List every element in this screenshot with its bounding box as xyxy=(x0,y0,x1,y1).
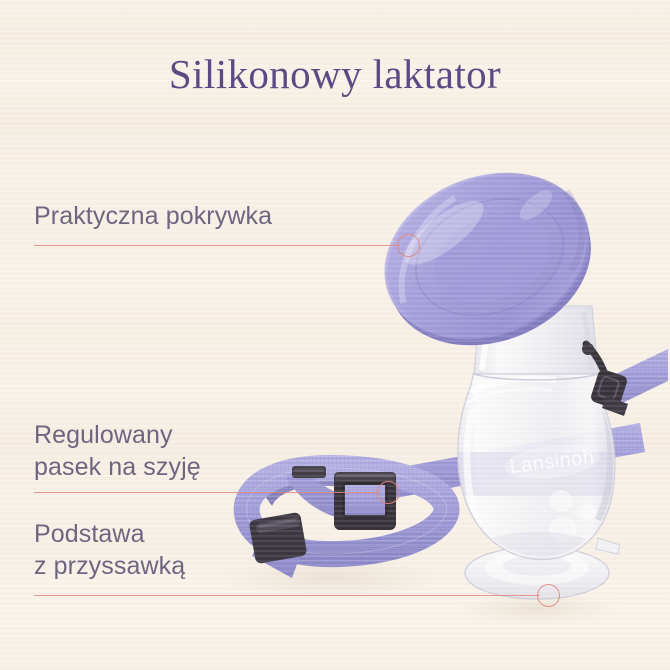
buckle-slider-top xyxy=(292,466,326,478)
pour-spout xyxy=(596,538,620,554)
callout-base-marker xyxy=(537,584,560,607)
buckle-side-release-left xyxy=(249,512,308,564)
callout-lid-leader-line xyxy=(34,245,400,246)
callout-lid: Praktyczna pokrywka xyxy=(34,200,272,232)
grip-dot xyxy=(579,504,597,520)
page-title: Silikonowy laktator xyxy=(0,50,670,98)
callout-base: Podstawa z przyssawką xyxy=(34,518,185,582)
callout-strap-label: Regulowany pasek na szyję xyxy=(34,419,201,483)
pump-bottle: Lansinoh xyxy=(440,306,640,599)
callout-strap: Regulowany pasek na szyję xyxy=(34,419,201,483)
callout-strap-marker xyxy=(377,481,400,504)
callout-strap-leader-line xyxy=(34,492,380,493)
callout-lid-marker xyxy=(397,234,420,257)
callout-base-label: Podstawa z przyssawką xyxy=(34,518,185,582)
callout-lid-label: Praktyczna pokrywka xyxy=(34,200,272,232)
callout-base-leader-line xyxy=(34,595,540,596)
grip-dot xyxy=(549,490,573,512)
infographic-canvas: Lansinoh xyxy=(0,0,670,670)
